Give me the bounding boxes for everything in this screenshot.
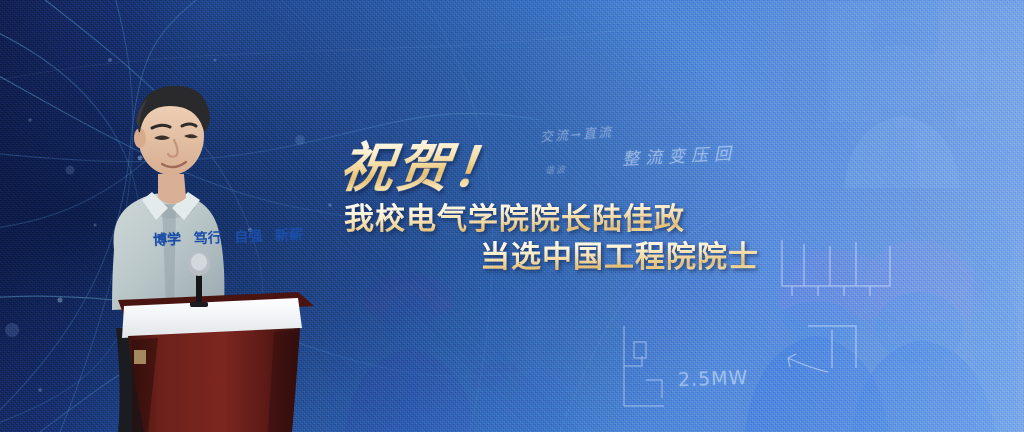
headline-block: 祝贺！ 我校电气学院院长陆佳政 当选中国工程院院士	[330, 140, 810, 276]
chalk-circuit-sketch-left	[620, 320, 680, 420]
banner-image: 交流→直流 整流变压回 谐波 2.5MW	[0, 0, 1024, 432]
podium-motto-part-3: 自强	[234, 226, 263, 247]
podium-motto-part-1: 博学	[153, 229, 182, 250]
podium-motto-part-2: 笃行	[193, 227, 222, 248]
headline-line-1: 我校电气学院院长陆佳政	[344, 202, 810, 237]
speaker-at-podium	[96, 78, 316, 432]
handwriting-power-rating: 2.5MW	[678, 367, 749, 391]
podium-motto-part-4: 新薪	[275, 224, 304, 245]
headline-line-2: 当选中国工程院院士	[480, 240, 810, 275]
headline-exclamation: 祝贺！	[337, 140, 512, 194]
